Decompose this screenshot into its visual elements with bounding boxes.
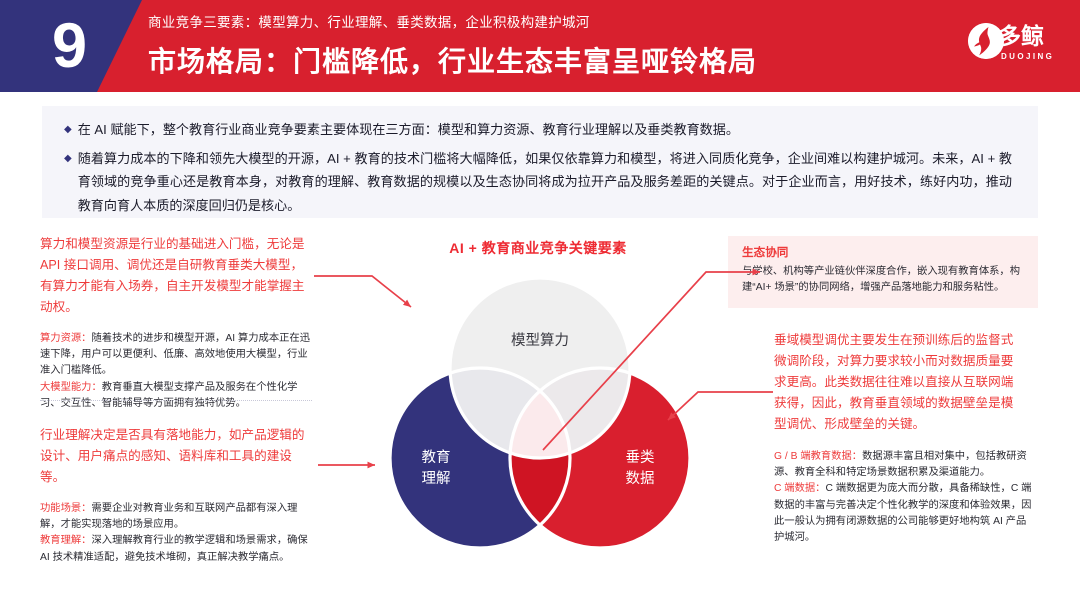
venn-label-education-line1: 教育 — [396, 448, 476, 469]
bullet-item: ◆ 在 AI 赋能下，整个教育行业商业竞争要素主要体现在三方面：模型和算力资源、… — [64, 118, 1012, 142]
detail-item: G / B 端教育数据：数据源丰富且相对集中，包括教研资源、教育全科和特定场景数… — [774, 449, 1032, 481]
logo-latin-text: DUOJING — [1001, 52, 1054, 62]
ecosystem-card-title: 生态协同 — [742, 244, 1026, 261]
compute-lead-text: 算力和模型资源是行业的基础进入门槛，无论是 API 接口调用、调优还是自研教育垂… — [40, 234, 312, 318]
left-bottom-annotation: 行业理解决定是否具有落地能力，如产品逻辑的设计、用户痛点的感知、语料库和工具的建… — [40, 425, 312, 566]
detail-item: 算力资源：随着技术的进步和模型开源，AI 算力成本正在迅速下降，用户可以更便利、… — [40, 331, 312, 380]
bullet-text: 在 AI 赋能下，整个教育行业商业竞争要素主要体现在三方面：模型和算力资源、教育… — [78, 118, 1012, 142]
summary-bullets-panel: ◆ 在 AI 赋能下，整个教育行业商业竞争要素主要体现在三方面：模型和算力资源、… — [42, 106, 1038, 218]
venn-diagram: 模型算力 教育 理解 垂类 数据 — [368, 258, 712, 558]
right-bottom-annotation: G / B 端教育数据：数据源丰富且相对集中，包括教研资源、教育全科和特定场景数… — [774, 449, 1032, 546]
detail-term: C 端数据： — [774, 483, 825, 494]
detail-item: 教育理解：深入理解教育行业的教学逻辑和场景需求，确保 AI 技术精准适配，避免技… — [40, 533, 312, 565]
left-top-annotation: 算力和模型资源是行业的基础进入门槛，无论是 API 接口调用、调优还是自研教育垂… — [40, 234, 312, 412]
logo-wordmark: 多鲸 — [998, 22, 1044, 50]
detail-item: 功能场景：需要企业对教育业务和互联网产品都有深入理解，才能实现落地的场景应用。 — [40, 501, 312, 533]
industry-lead-text: 行业理解决定是否具有落地能力，如产品逻辑的设计、用户痛点的感知、语料库和工具的建… — [40, 425, 312, 488]
venn-diagram-title: AI + 教育商业竞争关键要素 — [388, 238, 688, 258]
detail-term: G / B 端教育数据： — [774, 451, 862, 462]
detail-item: C 端数据：C 端数据更为庞大而分散，具备稀缺性，C 端数据的丰富与完善决定个性… — [774, 481, 1032, 546]
ecosystem-card-body: 与学校、机构等产业链伙伴深度合作，嵌入现有教育体系，构建“AI+ 场景”的协同网… — [742, 264, 1026, 296]
detail-term: 教育理解： — [40, 535, 91, 546]
bullet-marker-icon: ◆ — [64, 147, 72, 170]
vertical-model-lead-text: 垂域模型调优主要发生在预训练后的监督式微调阶段，对算力要求较小而对数据质量要求更… — [774, 330, 1024, 435]
bullet-text: 随着算力成本的下降和领先大模型的开源，AI + 教育的技术门槛将大幅降低，如果仅… — [78, 147, 1012, 218]
venn-label-model: 模型算力 — [480, 331, 600, 352]
bullet-item: ◆ 随着算力成本的下降和领先大模型的开源，AI + 教育的技术门槛将大幅降低，如… — [64, 147, 1012, 218]
venn-label-education-line2: 理解 — [396, 469, 476, 490]
header-subtitle: 商业竞争三要素：模型算力、行业理解、垂类数据，企业积极构建护城河 — [148, 14, 938, 32]
venn-label-data-line1: 垂类 — [600, 448, 680, 469]
right-mid-annotation: 垂域模型调优主要发生在预训练后的监督式微调阶段，对算力要求较小而对数据质量要求更… — [774, 330, 1024, 435]
slide-root: 9 商业竞争三要素：模型算力、行业理解、垂类数据，企业积极构建护城河 市场格局：… — [0, 0, 1080, 608]
header-text-group: 商业竞争三要素：模型算力、行业理解、垂类数据，企业积极构建护城河 市场格局：门槛… — [148, 14, 938, 80]
slide-number: 9 — [34, 2, 104, 90]
detail-term: 功能场景： — [40, 503, 91, 514]
industry-detail-group: 功能场景：需要企业对教育业务和互联网产品都有深入理解，才能实现落地的场景应用。 … — [40, 501, 312, 566]
brand-logo: 多鲸 DUOJING — [968, 22, 1064, 70]
detail-term: 大模型能力： — [40, 382, 102, 393]
venn-label-data-line2: 数据 — [600, 469, 680, 490]
ecosystem-card: 生态协同 与学校、机构等产业链伙伴深度合作，嵌入现有教育体系，构建“AI+ 场景… — [728, 236, 1038, 308]
detail-term: 算力资源： — [40, 333, 91, 344]
venn-label-education: 教育 理解 — [396, 448, 476, 490]
slide-header: 9 商业竞争三要素：模型算力、行业理解、垂类数据，企业积极构建护城河 市场格局：… — [0, 0, 1080, 92]
bullet-marker-icon: ◆ — [64, 118, 72, 141]
venn-label-data: 垂类 数据 — [600, 448, 680, 490]
page-title: 市场格局：门槛降低，行业生态丰富呈哑铃格局 — [148, 40, 938, 80]
left-dotted-divider — [40, 400, 312, 401]
detail-item: 大模型能力：教育垂直大模型支撑产品及服务在个性化学习、交互性、智能辅导等方面拥有… — [40, 380, 312, 412]
